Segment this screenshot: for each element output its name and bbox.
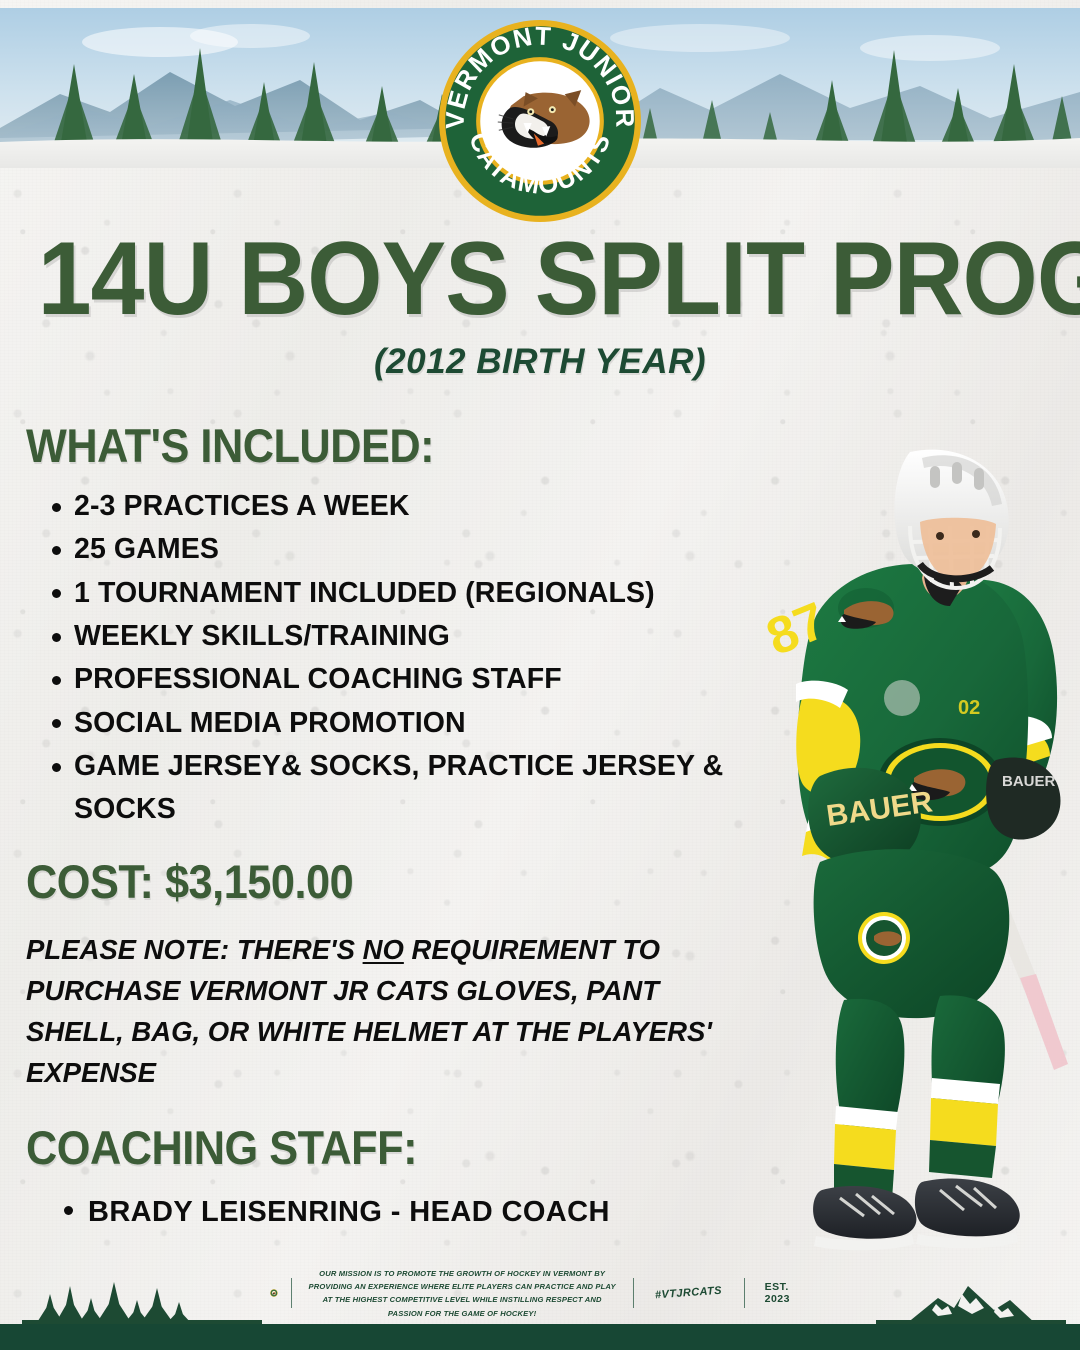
- list-item: 1 TOURNAMENT INCLUDED (REGIONALS): [26, 572, 726, 615]
- note-emphasis: NO: [363, 934, 404, 965]
- list-item: 25 GAMES: [26, 528, 726, 571]
- mountain-decoration: [876, 1276, 1066, 1324]
- footer-center-group: OUR MISSION IS TO PROMOTE THE GROWTH OF …: [270, 1267, 810, 1320]
- list-item: SOCIAL MEDIA PROMOTION: [26, 702, 726, 745]
- svg-text:BAUER: BAUER: [1002, 773, 1056, 790]
- list-item: PROFESSIONAL COACHING STAFF: [26, 658, 726, 701]
- coaching-staff-list: BRADY LEISENRING - HEAD COACH: [26, 1191, 726, 1233]
- page-title: 14U BOYS SPLIT PROGRAM: [38, 232, 1042, 328]
- cost-label: COST: $3,150.00: [26, 854, 670, 909]
- list-item: BRADY LEISENRING - HEAD COACH: [26, 1191, 726, 1233]
- mission-statement: OUR MISSION IS TO PROMOTE THE GROWTH OF …: [291, 1267, 633, 1320]
- disclaimer-note: PLEASE NOTE: THERE'S NO REQUIREMENT TO P…: [26, 929, 716, 1094]
- list-item: GAME JERSEY& SOCKS, PRACTICE JERSEY & SO…: [26, 745, 726, 832]
- footer-bottom-bar: [0, 1324, 1080, 1350]
- team-logo: VERMONT JUNIOR CATAMOUNTS: [437, 18, 643, 224]
- whats-included-heading: WHAT'S INCLUDED:: [26, 418, 670, 473]
- pine-trees-decoration: [22, 1280, 262, 1324]
- list-item: 2-3 PRACTICES A WEEK: [26, 485, 726, 528]
- footer-logo-icon: [270, 1280, 278, 1306]
- page-subtitle: (2012 BIRTH YEAR): [0, 342, 1080, 382]
- hashtag-label: #VTJRCATS: [633, 1284, 745, 1304]
- title-block: 14U BOYS SPLIT PROGRAM (2012 BIRTH YEAR): [0, 232, 1080, 382]
- svg-text:02: 02: [958, 697, 980, 719]
- player-photo: 87 02: [724, 430, 1080, 1260]
- footer: OUR MISSION IS TO PROMOTE THE GROWTH OF …: [0, 1274, 1080, 1350]
- list-item: WEEKLY SKILLS/TRAINING: [26, 615, 726, 658]
- content-column: WHAT'S INCLUDED: 2-3 PRACTICES A WEEK 25…: [26, 418, 726, 1233]
- established-label: EST. 2023: [745, 1281, 810, 1305]
- coaching-staff-heading: COACHING STAFF:: [26, 1120, 670, 1175]
- included-list: 2-3 PRACTICES A WEEK 25 GAMES 1 TOURNAME…: [26, 485, 726, 832]
- note-prefix: PLEASE NOTE: THERE'S: [26, 934, 363, 965]
